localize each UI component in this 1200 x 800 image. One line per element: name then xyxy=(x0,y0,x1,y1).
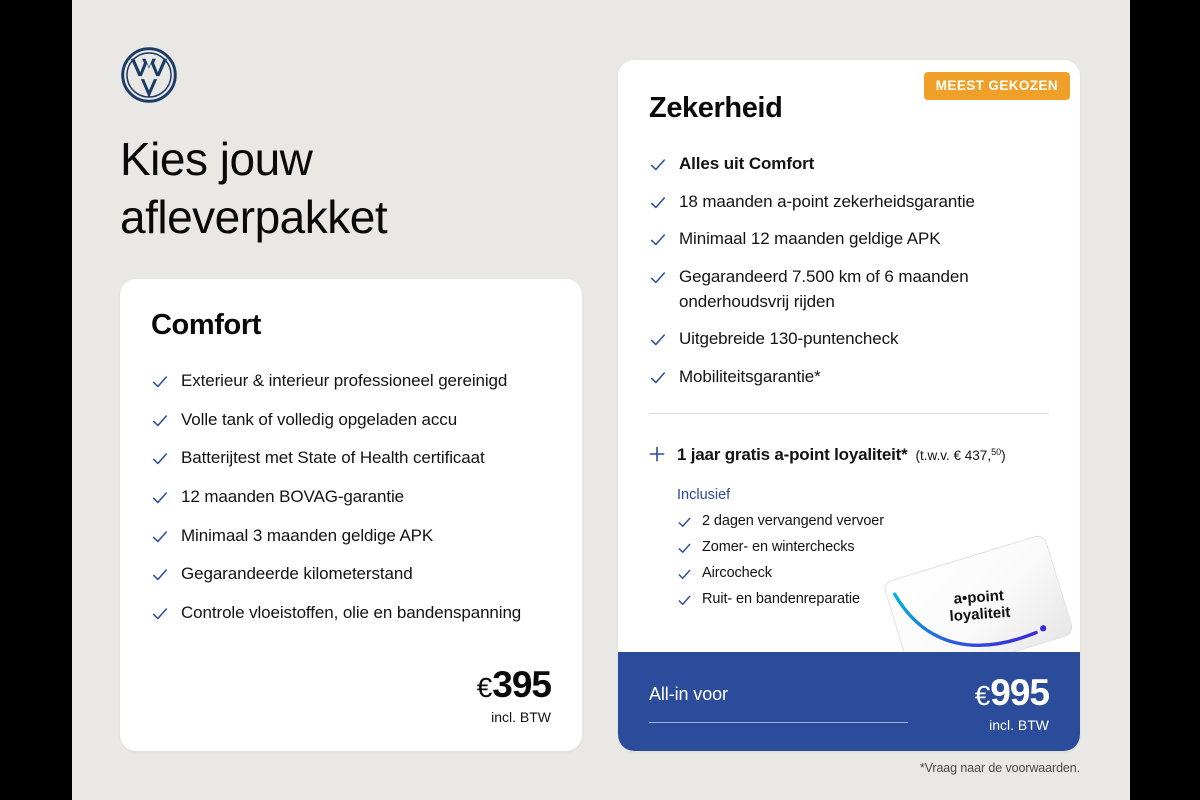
check-icon xyxy=(649,331,667,349)
footer-price-label: All-in voor xyxy=(649,684,728,705)
list-item-label: Controle vloeistoffen, olie en bandenspa… xyxy=(181,601,521,626)
list-item: Aircocheck xyxy=(677,564,977,583)
euro-symbol: € xyxy=(477,672,493,703)
list-item: Zomer- en winterchecks xyxy=(677,538,977,557)
check-icon xyxy=(151,605,169,623)
volkswagen-logo-icon xyxy=(120,46,178,104)
list-item-label: Exterieur & interieur professioneel gere… xyxy=(181,369,507,394)
comfort-price-note: incl. BTW xyxy=(477,709,551,725)
list-item-label: Aircocheck xyxy=(702,564,772,583)
list-item: Minimaal 12 maanden geldige APK xyxy=(649,227,1049,252)
page-canvas: Kies jouw afleverpakket Comfort Exterieu… xyxy=(72,0,1130,800)
disclaimer-text: *Vraag naar de voorwaarden. xyxy=(920,761,1080,775)
zekerheid-price-amount: €995 xyxy=(975,674,1049,711)
zekerheid-title: Zekerheid xyxy=(649,92,782,125)
list-item: Mobiliteitsgarantie* xyxy=(649,365,1049,390)
package-card-comfort[interactable]: Comfort Exterieur & interieur profession… xyxy=(120,279,582,751)
list-item-label: Alles uit Comfort xyxy=(679,152,814,177)
comfort-title: Comfort xyxy=(151,309,261,342)
list-item-label: Minimaal 12 maanden geldige APK xyxy=(679,227,941,252)
list-item: Exterieur & interieur professioneel gere… xyxy=(151,369,551,394)
check-icon xyxy=(151,450,169,468)
footer-rule xyxy=(649,722,908,723)
loyalty-addon-block: 1 jaar gratis a-point loyaliteit* (t.w.v… xyxy=(649,444,1059,615)
zekerheid-price-block: €995 incl. BTW xyxy=(975,674,1049,733)
loyalty-value-suffix: ) xyxy=(1001,448,1006,463)
list-item-label: Mobiliteitsgarantie* xyxy=(679,365,821,390)
package-card-zekerheid[interactable]: MEEST GEKOZEN Zekerheid Alles uit Comfor… xyxy=(618,60,1080,751)
price-value: 395 xyxy=(492,664,551,705)
check-icon xyxy=(649,156,667,174)
check-icon xyxy=(677,515,692,530)
check-icon xyxy=(151,489,169,507)
screenshot-stage: Kies jouw afleverpakket Comfort Exterieu… xyxy=(0,0,1200,800)
list-item-label: Uitgebreide 130-puntencheck xyxy=(679,327,898,352)
list-item: Uitgebreide 130-puntencheck xyxy=(649,327,1049,352)
list-item: Minimaal 3 maanden geldige APK xyxy=(151,524,551,549)
zekerheid-feature-list: Alles uit Comfort 18 maanden a-point zek… xyxy=(649,152,1049,402)
list-item: Controle vloeistoffen, olie en bandenspa… xyxy=(151,601,551,626)
check-icon xyxy=(649,231,667,249)
list-item-label: 18 maanden a-point zekerheidsgarantie xyxy=(679,190,975,215)
check-icon xyxy=(677,567,692,582)
included-label: Inclusief xyxy=(677,487,1059,503)
list-item: Volle tank of volledig opgeladen accu xyxy=(151,408,551,433)
loyalty-value-cents: 50 xyxy=(991,447,1001,457)
status-badge: MEEST GEKOZEN xyxy=(924,72,1070,100)
comfort-feature-list: Exterieur & interieur professioneel gere… xyxy=(151,369,551,625)
list-item-label: Volle tank of volledig opgeladen accu xyxy=(181,408,457,433)
list-item-label: Ruit- en bandenreparatie xyxy=(702,590,860,609)
list-item-label: Minimaal 3 maanden geldige APK xyxy=(181,524,433,549)
price-value: 995 xyxy=(990,672,1049,713)
list-item: 2 dagen vervangend vervoer xyxy=(677,512,977,531)
list-item: Alles uit Comfort xyxy=(649,152,1049,177)
list-item: Ruit- en bandenreparatie xyxy=(677,590,977,609)
check-icon xyxy=(649,194,667,212)
comfort-price-block: €395 incl. BTW xyxy=(477,666,551,725)
comfort-price-amount: €395 xyxy=(477,666,551,703)
loyalty-addon-title: 1 jaar gratis a-point loyaliteit* xyxy=(677,445,908,465)
list-item: Batterijtest met State of Health certifi… xyxy=(151,446,551,471)
zekerheid-price-note: incl. BTW xyxy=(975,717,1049,733)
list-item: 18 maanden a-point zekerheidsgarantie xyxy=(649,190,1049,215)
list-item: Gegarandeerd 7.500 km of 6 maanden onder… xyxy=(649,265,1049,314)
page-title: Kies jouw afleverpakket xyxy=(120,130,560,247)
divider xyxy=(649,413,1049,414)
check-icon xyxy=(649,269,667,287)
list-item-label: Gegarandeerd 7.500 km of 6 maanden onder… xyxy=(679,265,1049,314)
check-icon xyxy=(649,369,667,387)
loyalty-value-prefix: (t.w.v. € 437, xyxy=(916,448,992,463)
zekerheid-price-footer: All-in voor €995 incl. BTW xyxy=(618,652,1080,751)
plus-icon xyxy=(649,446,665,462)
included-items-list: 2 dagen vervangend vervoer Zomer- en win… xyxy=(677,512,977,608)
check-icon xyxy=(677,593,692,608)
check-icon xyxy=(151,566,169,584)
list-item-label: 2 dagen vervangend vervoer xyxy=(702,512,884,531)
list-item: Gegarandeerde kilometerstand xyxy=(151,562,551,587)
loyalty-addon-header: 1 jaar gratis a-point loyaliteit* (t.w.v… xyxy=(649,444,1059,465)
list-item-label: Batterijtest met State of Health certifi… xyxy=(181,446,485,471)
list-item-label: Gegarandeerde kilometerstand xyxy=(181,562,413,587)
check-icon xyxy=(151,412,169,430)
loyalty-addon-value: (t.w.v. € 437,50) xyxy=(916,447,1006,463)
euro-symbol: € xyxy=(975,680,991,711)
list-item-label: Zomer- en winterchecks xyxy=(702,538,855,557)
check-icon xyxy=(151,528,169,546)
list-item-label: 12 maanden BOVAG-garantie xyxy=(181,485,404,510)
check-icon xyxy=(677,541,692,556)
check-icon xyxy=(151,373,169,391)
list-item: 12 maanden BOVAG-garantie xyxy=(151,485,551,510)
